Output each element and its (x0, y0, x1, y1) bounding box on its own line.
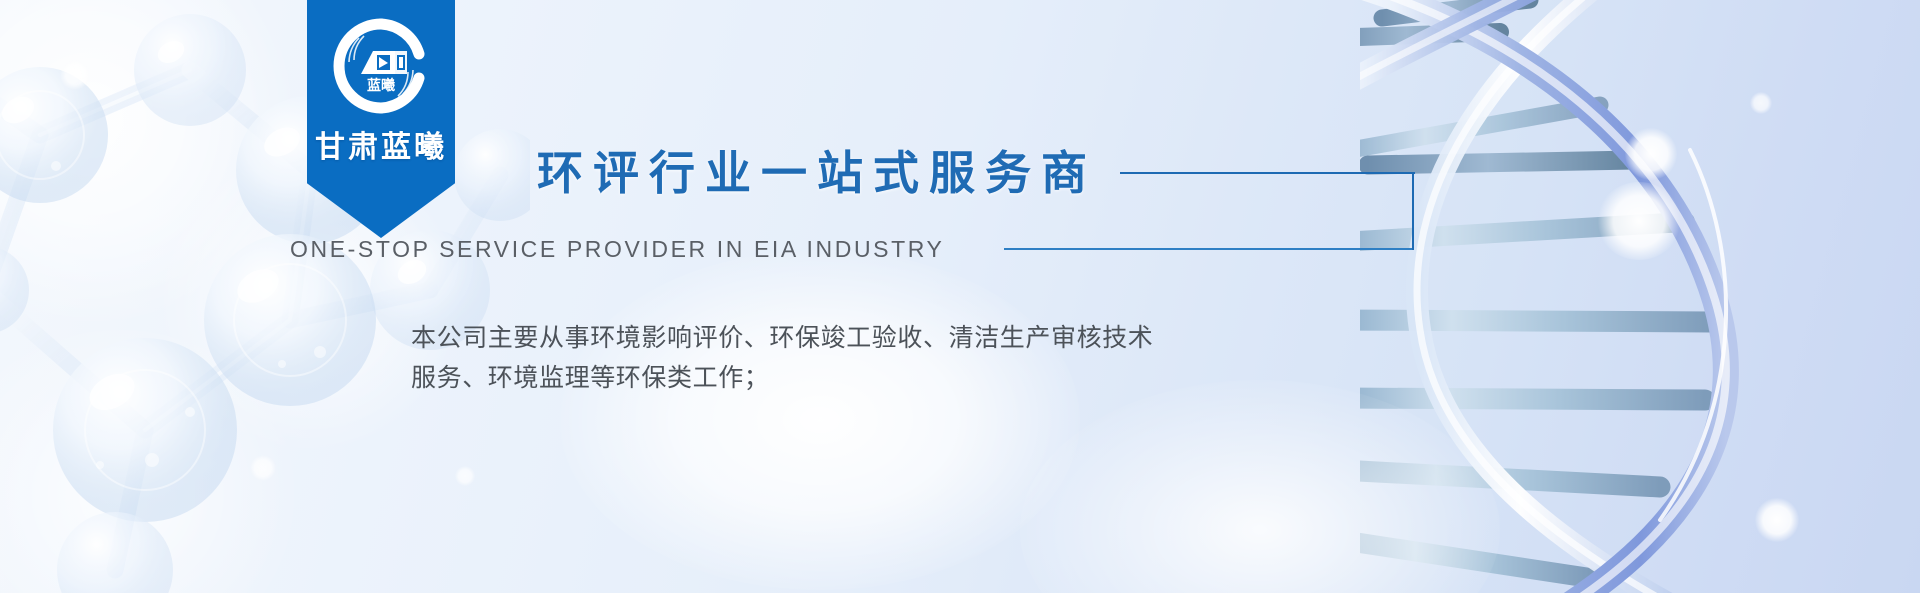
ribbon-company-name: 甘肃蓝曦 (307, 122, 455, 166)
bokeh-dot (455, 466, 475, 486)
description-line-1: 本公司主要从事环境影响评价、环保竣工验收、清洁生产审核技术 (411, 318, 1181, 358)
dna-double-helix-illustration (1360, 0, 1920, 593)
page-title: 环评行业一站式服务商 (537, 137, 1097, 203)
description-line-2: 服务、环境监理等环保类工作； (411, 358, 1181, 398)
bokeh-dot (1625, 128, 1677, 180)
bokeh-dot (1750, 92, 1772, 114)
background-glow (560, 250, 1080, 590)
background-glow (0, 0, 300, 330)
lanxi-circle-logo-icon: 蓝曦 (333, 18, 429, 114)
bracket-right-line (1412, 172, 1414, 250)
company-ribbon-badge[interactable]: 蓝曦 甘肃蓝曦 (307, 0, 455, 238)
logo-mark-text: 蓝曦 (367, 77, 395, 94)
bokeh-dot (1597, 182, 1681, 260)
horizontal-rule (1004, 248, 1414, 250)
bracket-top-line (1120, 172, 1415, 174)
hero-banner: 蓝曦 甘肃蓝曦 环评行业一站式服务商 ONE-STOP SERVICE PROV… (0, 0, 1920, 593)
bokeh-dot (250, 455, 276, 481)
background-glow (1020, 380, 1500, 593)
bokeh-dot (60, 60, 90, 90)
page-subtitle: ONE-STOP SERVICE PROVIDER IN EIA INDUSTR… (290, 236, 944, 263)
bokeh-dot (1755, 498, 1799, 542)
company-description: 本公司主要从事环境影响评价、环保竣工验收、清洁生产审核技术 服务、环境监理等环保… (411, 318, 1181, 398)
